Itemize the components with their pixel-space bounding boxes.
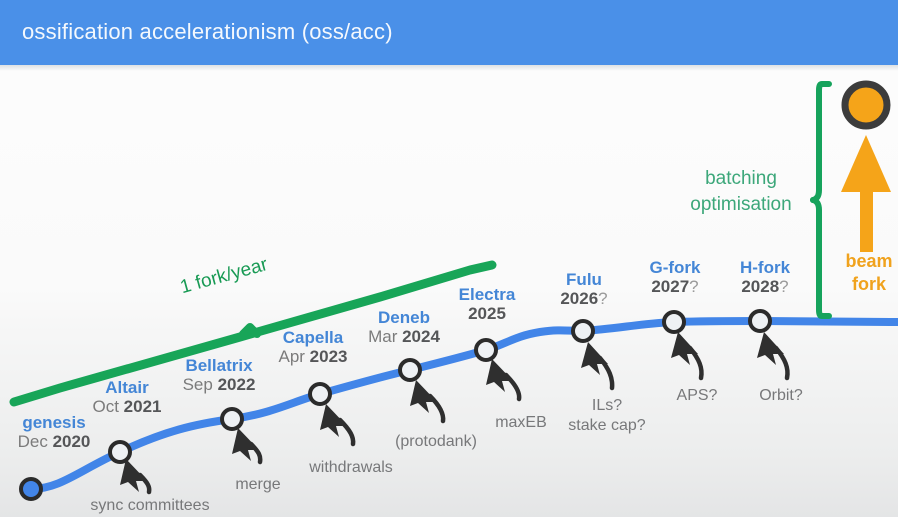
fork-label-h-fork: H-fork 2028? <box>716 258 814 296</box>
fork-date-genesis: Dec 2020 <box>0 432 108 451</box>
fork-node-h-fork <box>750 311 770 331</box>
fork-name-electra: Electra <box>438 285 536 304</box>
fork-node-genesis <box>21 479 41 499</box>
annotation-orbit: Orbit? <box>744 386 818 406</box>
fork-date-h-fork: 2028? <box>716 277 814 296</box>
fork-date-altair: Oct 2021 <box>72 397 182 416</box>
fork-node-altair <box>110 442 130 462</box>
callout-batching-optimisation: batching optimisation <box>668 166 814 217</box>
batching-optimisation-brace <box>813 84 829 316</box>
annotation-merge: merge <box>216 475 300 495</box>
fork-date-electra: 2025 <box>438 304 536 323</box>
fork-node-bellatrix <box>222 409 242 429</box>
annotation-sync-committees: sync committees <box>80 496 220 516</box>
beam-fork-arrow <box>841 135 891 252</box>
fork-name-fulu: Fulu <box>538 270 630 289</box>
callout-beam-fork: beam fork <box>840 250 898 297</box>
annotation-maxeb: maxEB <box>484 413 558 433</box>
beam-fork-node <box>845 84 887 126</box>
fork-label-g-fork: G-fork 2027? <box>626 258 724 296</box>
annotation-stake-cap: stake cap? <box>552 416 662 436</box>
annotation-protodank: (protodank) <box>380 432 492 452</box>
fork-node-deneb <box>400 360 420 380</box>
fork-name-h-fork: H-fork <box>716 258 814 277</box>
annotation-aps: APS? <box>660 386 734 406</box>
annotation-withdrawals: withdrawals <box>296 458 406 478</box>
fork-label-electra: Electra 2025 <box>438 285 536 323</box>
batching-line-2: optimisation <box>668 192 814 218</box>
fork-date-deneb: Mar 2024 <box>348 327 460 346</box>
fork-node-g-fork <box>664 312 684 332</box>
fork-date-capella: Apr 2023 <box>258 347 368 366</box>
fork-date-fulu: 2026? <box>538 289 630 308</box>
fork-label-genesis: genesis Dec 2020 <box>0 413 108 451</box>
fork-date-bellatrix: Sep 2022 <box>160 375 278 394</box>
fork-node-fulu <box>573 321 593 341</box>
beam-line-2: fork <box>840 273 898 296</box>
slide-canvas: ossification accelerationism (oss/acc) <box>0 0 898 517</box>
fork-name-g-fork: G-fork <box>626 258 724 277</box>
beam-line-1: beam <box>840 250 898 273</box>
fork-date-g-fork: 2027? <box>626 277 724 296</box>
fork-node-capella <box>310 384 330 404</box>
annotation-ils-stake-cap: ILs? stake cap? <box>552 396 662 436</box>
annotation-ils: ILs? <box>552 396 662 416</box>
fork-node-electra <box>476 340 496 360</box>
fork-label-fulu: Fulu 2026? <box>538 270 630 308</box>
batching-line-1: batching <box>668 166 814 192</box>
